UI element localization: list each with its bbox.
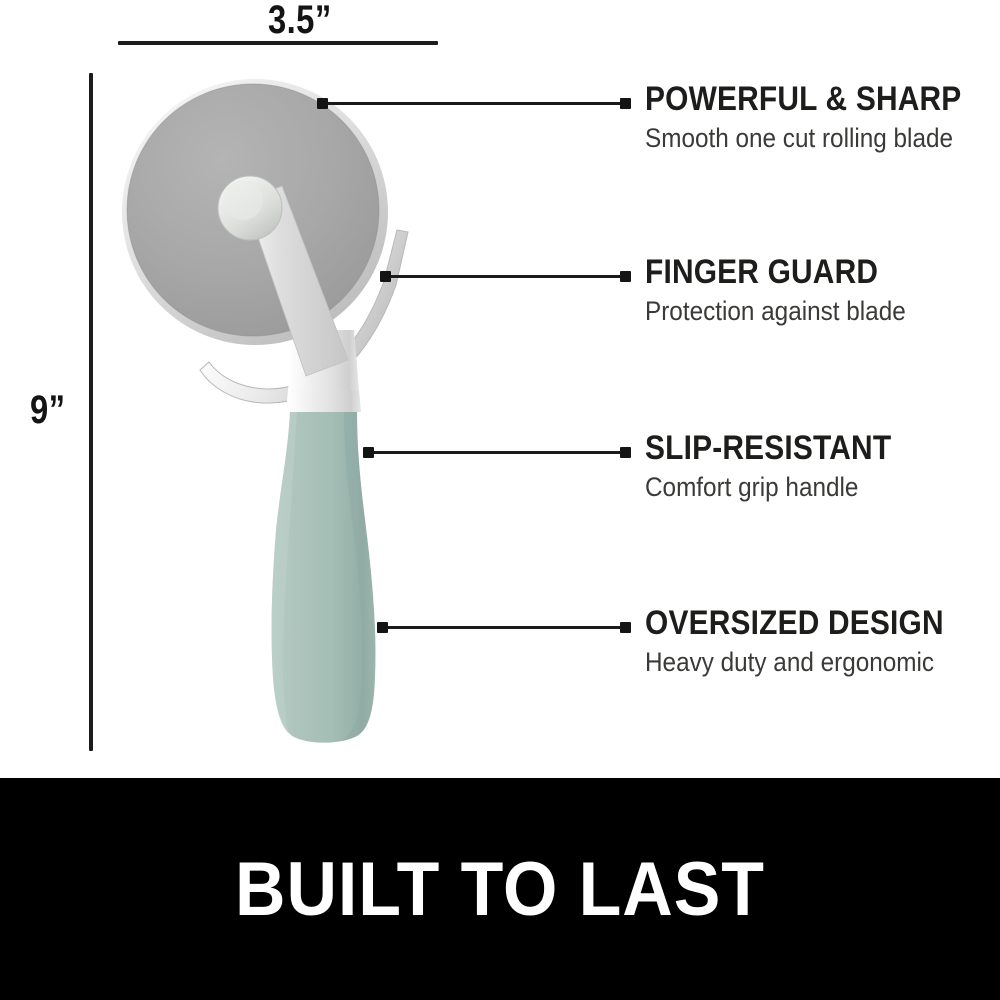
callout-finger-guard: FINGER GUARD Protection against blade bbox=[645, 255, 990, 327]
banner-headline: BUILT TO LAST bbox=[235, 846, 765, 933]
leader-marker-3-start bbox=[363, 447, 374, 458]
leader-line-2 bbox=[385, 275, 625, 278]
callout-powerful-and-sharp: POWERFUL & SHARP Smooth one cut rolling … bbox=[645, 82, 990, 154]
callout-subtitle: Heavy duty and ergonomic bbox=[645, 647, 956, 678]
callout-title: FINGER GUARD bbox=[645, 255, 949, 289]
width-dimension-label: 3.5” bbox=[268, 0, 332, 43]
leader-line-4 bbox=[382, 626, 625, 629]
leader-marker-2-start bbox=[380, 271, 391, 282]
callout-title: POWERFUL & SHARP bbox=[645, 82, 949, 116]
grip-handle bbox=[272, 412, 376, 743]
leader-marker-2-end bbox=[620, 271, 631, 282]
leader-marker-4-end bbox=[620, 622, 631, 633]
leader-line-3 bbox=[368, 451, 625, 454]
height-dimension-line bbox=[89, 73, 93, 751]
callout-title: OVERSIZED DESIGN bbox=[645, 606, 949, 640]
leader-marker-3-end bbox=[620, 447, 631, 458]
callout-title: SLIP-RESISTANT bbox=[645, 431, 949, 465]
callout-slip-resistant: SLIP-RESISTANT Comfort grip handle bbox=[645, 431, 990, 503]
callout-subtitle: Protection against blade bbox=[645, 296, 956, 327]
callout-subtitle: Comfort grip handle bbox=[645, 472, 956, 503]
blade-hub bbox=[218, 176, 282, 240]
leader-marker-1-start bbox=[317, 98, 328, 109]
infographic-page: 3.5” 9” bbox=[0, 0, 1000, 1000]
callout-subtitle: Smooth one cut rolling blade bbox=[645, 123, 956, 154]
leader-line-1 bbox=[322, 102, 625, 105]
leader-marker-1-end bbox=[620, 98, 631, 109]
product-illustration bbox=[110, 60, 450, 750]
leader-marker-4-start bbox=[377, 622, 388, 633]
bottom-banner: BUILT TO LAST bbox=[0, 778, 1000, 1000]
callout-oversized-design: OVERSIZED DESIGN Heavy duty and ergonomi… bbox=[645, 606, 990, 678]
height-dimension-label: 9” bbox=[30, 388, 65, 433]
